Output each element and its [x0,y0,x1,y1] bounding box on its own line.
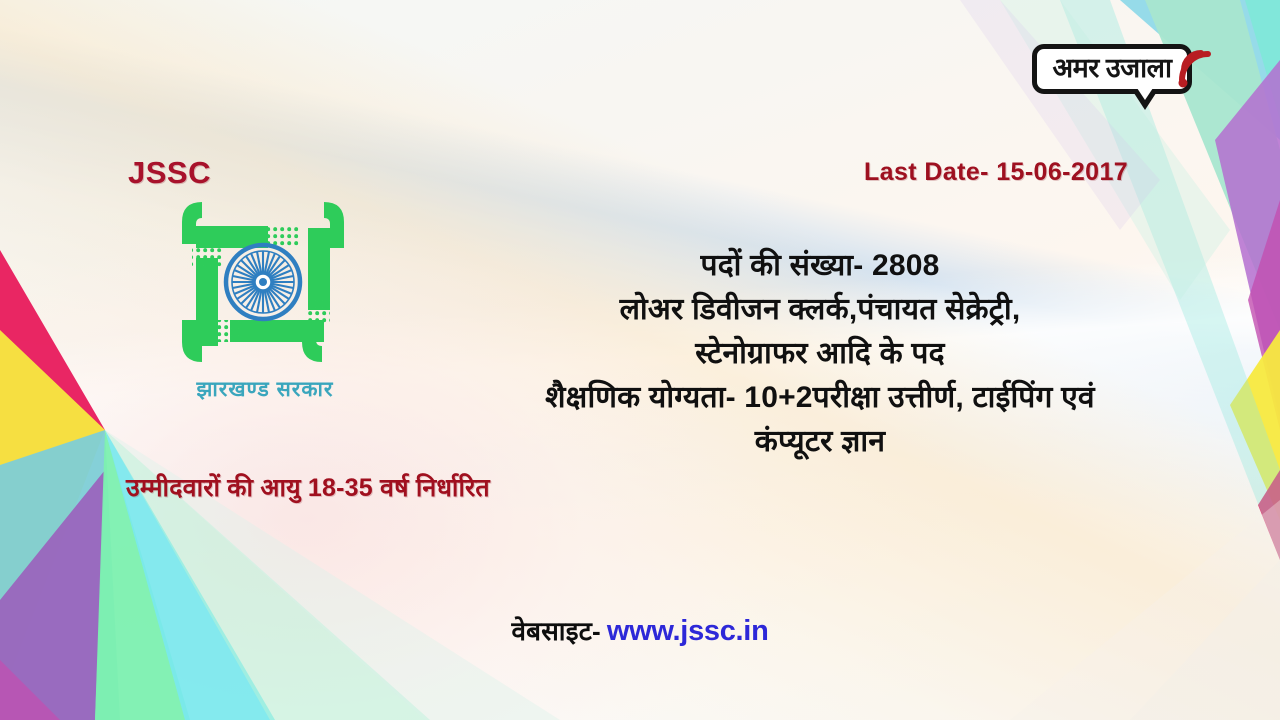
last-date-label: Last Date- 15-06-2017 [864,158,1128,187]
emblem-graphic [168,192,358,377]
website-url[interactable]: www.jssc.in [607,615,769,647]
detail-line-post-names-2: स्टेनोग्राफर आदि के पद [420,332,1220,376]
poster-canvas: अमर उजाला JSSC [0,0,1280,720]
website-label: वेबसाइट- [512,616,601,646]
page-title-jssc: JSSC [128,155,211,191]
age-criteria-label: उम्मीदवारों की आयु 18-35 वर्ष निर्धारित [126,470,490,504]
jharkhand-government-emblem: झारखण्ड सरकार [168,192,368,422]
emblem-caption: झारखण्ड सरकार [160,375,370,403]
detail-line-qualification-2: कंप्यूटर ज्ञान [420,420,1220,464]
detail-line-posts-count: पदों की संख्या- 2808 [420,244,1220,288]
amar-ujala-logo: अमर उजाला [1032,36,1228,114]
website-row: वेबसाइट-www.jssc.in [0,612,1280,648]
ashoka-chakra-icon [226,245,300,319]
vacancy-details-block: पदों की संख्या- 2808 लोअर डिवीजन क्लर्क,… [420,244,1220,464]
detail-line-qualification-1: शैक्षणिक योग्यता- 10+2परीक्षा उत्तीर्ण, … [420,376,1220,420]
logo-text: अमर उजाला [1032,44,1192,94]
detail-line-post-names-1: लोअर डिवीजन क्लर्क,पंचायत सेक्रेट्री, [420,288,1220,332]
wifi-signal-icon [1172,36,1226,92]
